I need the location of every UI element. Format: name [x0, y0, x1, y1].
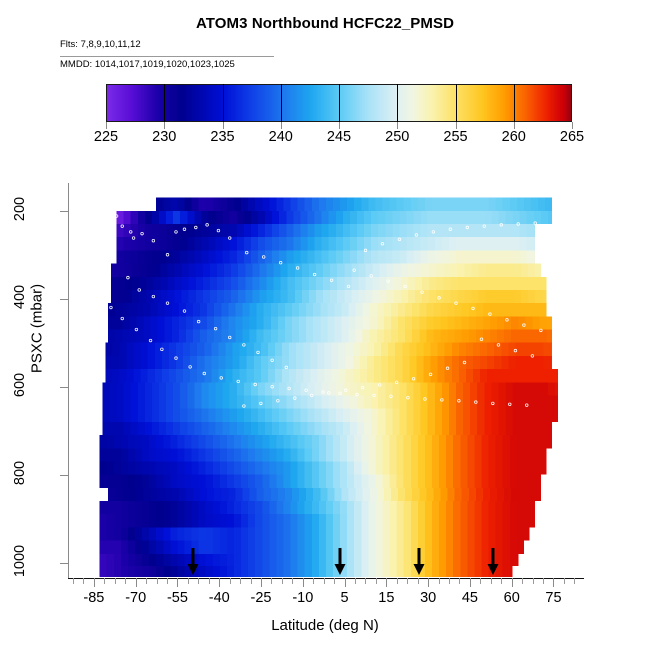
- y-axis-tick: [60, 387, 69, 388]
- x-axis-tick: [94, 578, 95, 587]
- colorbar-divider: [339, 84, 340, 122]
- y-axis-tick-label: 200: [12, 174, 28, 244]
- colorbar-tick: [339, 122, 340, 129]
- colorbar-tick-label: 250: [367, 129, 427, 145]
- y-axis-tick: [60, 211, 69, 212]
- x-axis-minor-tick: [251, 578, 252, 584]
- y-axis-tick-label: 800: [12, 438, 28, 508]
- y-axis-tick-label: 1000: [12, 526, 28, 596]
- x-axis-tick: [136, 578, 137, 587]
- x-axis-minor-tick: [355, 578, 356, 584]
- x-axis-tick: [512, 578, 513, 587]
- colorbar-tick: [397, 122, 398, 129]
- colorbar-divider: [514, 84, 515, 122]
- x-axis-tick: [303, 578, 304, 587]
- colorbar-divider: [164, 84, 165, 122]
- x-axis-minor-tick: [449, 578, 450, 584]
- colorbar-tick: [456, 122, 457, 129]
- x-axis-minor-tick: [292, 578, 293, 584]
- colorbar-tick: [106, 122, 107, 129]
- x-axis-minor-tick: [157, 578, 158, 584]
- colorbar-tick: [281, 122, 282, 129]
- y-axis-tick-label: 600: [12, 350, 28, 420]
- x-axis-minor-tick: [480, 578, 481, 584]
- x-axis-minor-tick: [83, 578, 84, 584]
- latitude-marker-arrow: [486, 548, 500, 576]
- latitude-marker-arrow: [186, 548, 200, 576]
- mmdd-annotation: MMDD: 1014,1017,1019,1020,1023,1025: [60, 59, 274, 70]
- x-axis-tick: [386, 578, 387, 587]
- colorbar-tick-label: 240: [251, 129, 311, 145]
- x-axis-minor-tick: [491, 578, 492, 584]
- page-title: ATOM3 Northbound HCFC22_PMSD: [0, 15, 650, 32]
- x-axis-minor-tick: [324, 578, 325, 584]
- x-axis-minor-tick: [418, 578, 419, 584]
- colorbar-tick-labels: 225230235240245250255260265: [0, 129, 650, 151]
- colorbar-tick-label: 245: [309, 129, 369, 145]
- colorbar-divider: [456, 84, 457, 122]
- x-axis-minor-tick: [209, 578, 210, 584]
- latitude-marker-arrow: [412, 548, 426, 576]
- heatmap-field: [77, 180, 572, 578]
- latitude-marker-arrow: [333, 548, 347, 576]
- y-axis-title: PSXC (mbar): [29, 259, 46, 399]
- x-axis-tick: [553, 578, 554, 587]
- x-axis-tick: [428, 578, 429, 587]
- colorbar-tick: [514, 122, 515, 129]
- colorbar-tick-label: 260: [484, 129, 544, 145]
- x-axis-minor-tick: [313, 578, 314, 584]
- y-axis-line: [68, 183, 69, 578]
- x-axis-minor-tick: [334, 578, 335, 584]
- x-axis-title: Latitude (deg N): [0, 617, 650, 634]
- colorbar-tick: [223, 122, 224, 129]
- x-axis-minor-tick: [522, 578, 523, 584]
- x-axis-minor-tick: [376, 578, 377, 584]
- x-axis-minor-tick: [459, 578, 460, 584]
- x-axis-minor-tick: [271, 578, 272, 584]
- x-axis-tick: [219, 578, 220, 587]
- colorbar-tick-label: 255: [426, 129, 486, 145]
- colorbar-divider: [281, 84, 282, 122]
- y-axis-tick: [60, 563, 69, 564]
- x-axis-minor-tick: [543, 578, 544, 584]
- x-axis-minor-tick: [73, 578, 74, 584]
- x-axis-minor-tick: [146, 578, 147, 584]
- colorbar-tick-label: 235: [193, 129, 253, 145]
- x-axis-tick: [261, 578, 262, 587]
- x-axis-minor-tick: [282, 578, 283, 584]
- x-axis-tick-label: 75: [523, 590, 583, 606]
- x-axis-tick: [470, 578, 471, 587]
- colorbar-tick-label: 230: [134, 129, 194, 145]
- x-axis-tick: [345, 578, 346, 587]
- x-axis-minor-tick: [198, 578, 199, 584]
- x-axis-minor-tick: [533, 578, 534, 584]
- colorbar-tick-label: 265: [542, 129, 602, 145]
- x-axis-tick: [177, 578, 178, 587]
- x-axis-minor-tick: [397, 578, 398, 584]
- x-axis-minor-tick: [125, 578, 126, 584]
- colorbar-tick: [164, 122, 165, 129]
- x-axis-minor-tick: [104, 578, 105, 584]
- colorbar-tick-label: 225: [76, 129, 136, 145]
- x-axis-minor-tick: [407, 578, 408, 584]
- plot-page: ATOM3 Northbound HCFC22_PMSD Flts: 7,8,9…: [0, 0, 650, 650]
- y-axis-tick-label: 400: [12, 262, 28, 332]
- x-axis-minor-tick: [230, 578, 231, 584]
- x-axis-minor-tick: [167, 578, 168, 584]
- heatmap-plot-area: [77, 180, 572, 578]
- flights-annotation: Flts: 7,8,9,10,11,12: [60, 39, 141, 50]
- x-axis-minor-tick: [564, 578, 565, 584]
- x-axis-minor-tick: [240, 578, 241, 584]
- x-axis-minor-tick: [574, 578, 575, 584]
- x-axis-minor-tick: [365, 578, 366, 584]
- colorbar: [106, 84, 572, 122]
- colorbar-divider: [397, 84, 398, 122]
- x-axis-minor-tick: [115, 578, 116, 584]
- y-axis-tick: [60, 475, 69, 476]
- colorbar-tick: [572, 122, 573, 129]
- mmdd-annotation-box: MMDD: 1014,1017,1019,1020,1023,1025: [60, 56, 274, 70]
- x-axis-minor-tick: [188, 578, 189, 584]
- x-axis-minor-tick: [439, 578, 440, 584]
- colorbar-divider: [223, 84, 224, 122]
- x-axis-minor-tick: [501, 578, 502, 584]
- y-axis-tick: [60, 299, 69, 300]
